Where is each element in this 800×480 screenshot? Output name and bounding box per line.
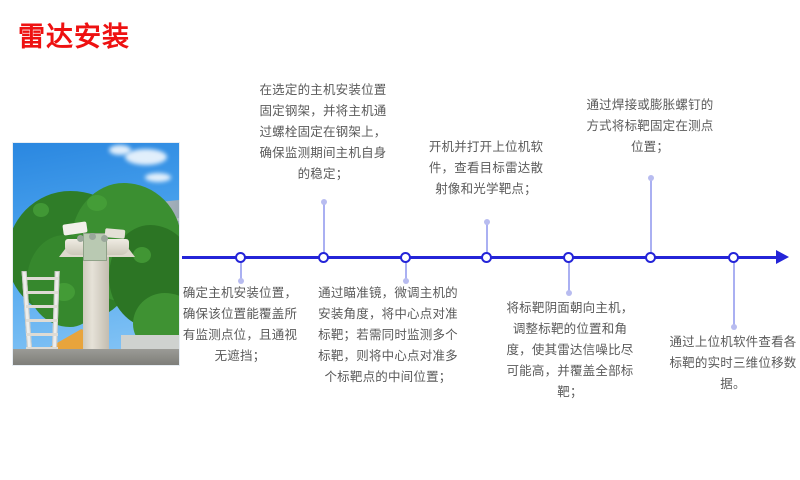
connector-dot-icon [321, 199, 327, 205]
timeline-node-text-6: 通过焊接或膨胀螺钉的方式将标靶固定在测点位置； [583, 95, 717, 158]
timeline-node-text-2: 在选定的主机安装位置固定钢架，并将主机通过螺栓固定在钢架上，确保监测期间主机自身… [256, 80, 390, 185]
page-title: 雷达安装 [18, 22, 130, 53]
timeline-node-marker-4[interactable] [481, 252, 492, 263]
photo-cloud [109, 145, 131, 155]
timeline-connector-5 [568, 259, 570, 293]
slide-canvas: 雷达安装 [0, 0, 800, 480]
timeline-node-marker-3[interactable] [400, 252, 411, 263]
photo-ground [13, 349, 179, 365]
radar-installation-photo [12, 142, 180, 366]
timeline-node-marker-2[interactable] [318, 252, 329, 263]
timeline-connector-6 [650, 178, 652, 254]
photo-cloud [145, 173, 171, 182]
timeline-node-marker-1[interactable] [235, 252, 246, 263]
timeline-node-marker-6[interactable] [645, 252, 656, 263]
connector-dot-icon [731, 324, 737, 330]
connector-dot-icon [484, 219, 490, 225]
timeline-node-text-1: 确定主机安装位置，确保该位置能覆盖所有监测点位，且通视无遮挡； [182, 283, 298, 367]
connector-dot-icon [403, 278, 409, 284]
connector-dot-icon [238, 278, 244, 284]
timeline-node-marker-5[interactable] [563, 252, 574, 263]
timeline-connector-4 [486, 222, 488, 254]
timeline-arrow-icon [776, 250, 789, 264]
photo-cloud [125, 149, 167, 165]
timeline-connector-2 [323, 202, 325, 254]
connector-dot-icon [648, 175, 654, 181]
timeline-node-text-3: 通过瞄准镜，微调主机的安装角度，将中心点对准标靶；若需同时监测多个标靶，则将中心… [314, 283, 462, 388]
connector-dot-icon [566, 290, 572, 296]
timeline-node-marker-7[interactable] [728, 252, 739, 263]
timeline-node-text-5: 将标靶阴面朝向主机，调整标靶的位置和角度，使其雷达信噪比尽可能高，并覆盖全部标靶… [503, 298, 637, 403]
timeline-node-text-7: 通过上位机软件查看各标靶的实时三维位移数据。 [668, 332, 798, 395]
timeline-connector-7 [733, 259, 735, 327]
timeline-node-text-4: 开机并打开上位机软件，查看目标雷达散射像和光学靶点； [427, 137, 545, 200]
